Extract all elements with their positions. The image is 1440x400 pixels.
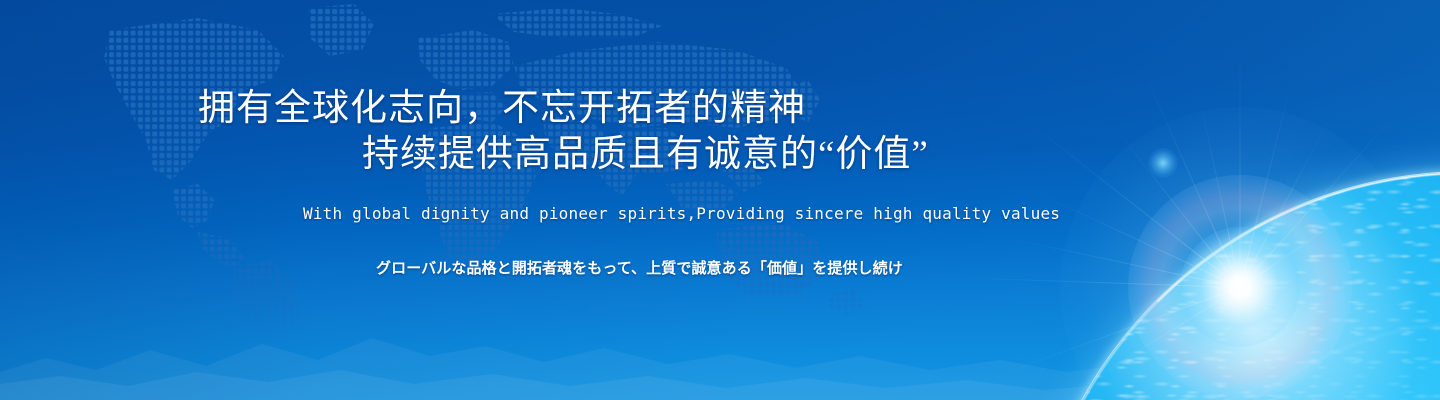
planet-limb-highlight (1028, 172, 1440, 400)
sun-flare-halo (1128, 175, 1352, 399)
subtitle-japanese: グローバルな品格と開拓者魂をもって、上質で誠意ある「価値」を提供し続け (376, 261, 903, 276)
planet-ring-outer (1124, 322, 1440, 400)
sun-flare-glow (1060, 107, 1420, 400)
headline-line-1: 拥有全球化志向，不忘开拓者的精神 (198, 90, 806, 127)
earth-planet (1010, 0, 1440, 400)
planet-surface (1028, 172, 1440, 400)
sun-flare-core (1180, 227, 1300, 347)
star-glow-dot (1148, 148, 1178, 178)
hero-banner: 拥有全球化志向，不忘开拓者的精神 持续提供高品质且有诚意的“价值” With g… (0, 0, 1440, 400)
planet-texture (1028, 172, 1440, 400)
subtitle-english: With global dignity and pioneer spirits,… (303, 206, 1060, 222)
headline-line-2: 持续提供高品质且有诚意的“价值” (362, 136, 929, 173)
